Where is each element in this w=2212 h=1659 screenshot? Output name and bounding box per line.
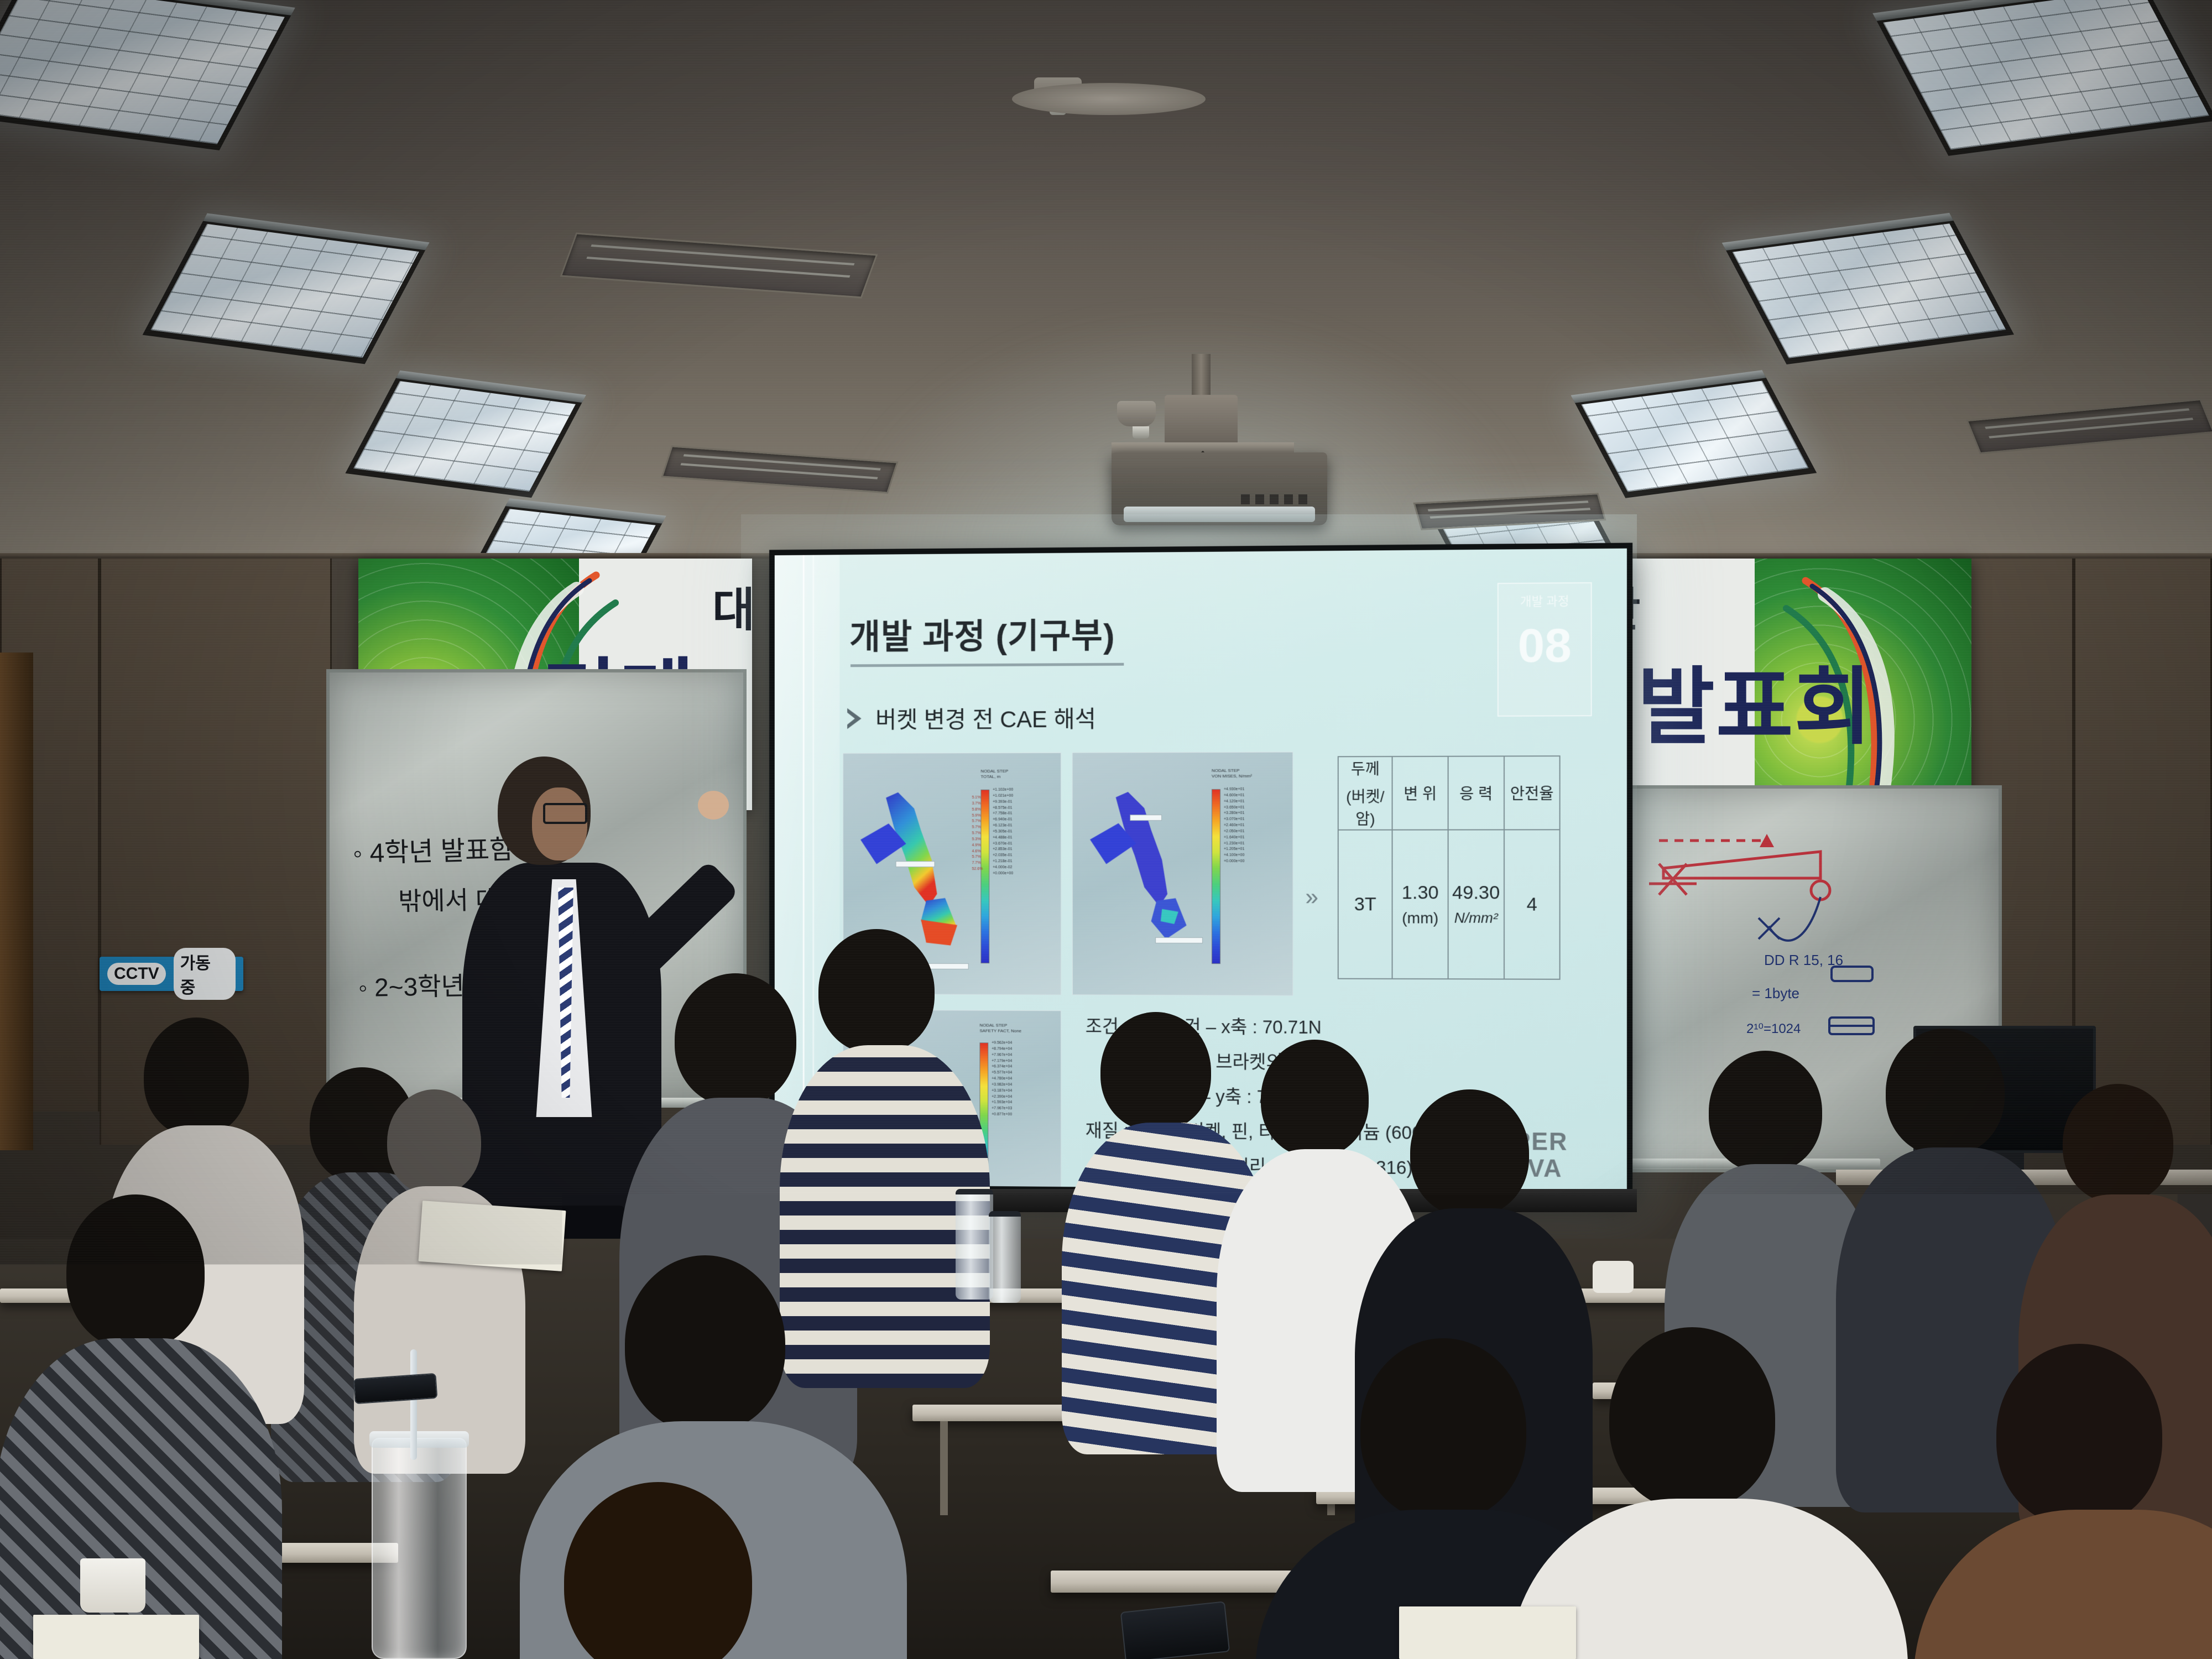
whiteboard-left-note-1: ◦ 4학년 발표함 — [352, 827, 514, 870]
audience-head — [66, 1194, 205, 1349]
colorbar-title: NODAL STEPSAFETY FACT, None — [979, 1022, 1021, 1034]
slide-page-badge: 개발 과정 08 — [1498, 582, 1592, 717]
table-header-thickness: 두께 (버켓/암) — [1338, 757, 1392, 830]
audience-head — [1996, 1344, 2162, 1526]
banner-left-edge-char: 대 — [712, 573, 752, 640]
audience-head — [1360, 1338, 1526, 1521]
cell-stress-unit: N/mm² — [1449, 909, 1504, 926]
paper-cup — [80, 1558, 145, 1613]
projector-ports — [1241, 494, 1307, 504]
table-row: 3T 1.30 (mm) 49.30 N/mm² 4 — [1338, 830, 1560, 979]
fea-callout — [1130, 815, 1162, 821]
audience-head — [144, 1018, 249, 1136]
water-bottle — [989, 1211, 1021, 1303]
audience-head — [1410, 1089, 1529, 1217]
colorbar-tick-labels: +4.930e+01+4.600e+01+4.120e+01+3.650e+01… — [1224, 787, 1244, 865]
svg-text:2¹⁰=1024: 2¹⁰=1024 — [1746, 1021, 1801, 1036]
audience-head — [387, 1089, 481, 1194]
cctv-sign: CCTV 가동 중 — [100, 957, 243, 991]
svg-text:= 1byte: = 1byte — [1752, 985, 1799, 1001]
table-header-displacement: 변 위 — [1392, 757, 1448, 830]
drinking-straw — [410, 1349, 417, 1460]
table-item — [1593, 1261, 1634, 1293]
audience-head — [2063, 1084, 2173, 1203]
presenter-hand — [698, 791, 729, 820]
event-banner-right: 단 발표회 한국연구재단 — [1584, 559, 1971, 818]
cell-safety-factor: 4 — [1504, 830, 1560, 979]
audience-head — [1886, 1029, 2005, 1156]
banner-right-title: 발표회 — [1637, 639, 1873, 760]
cell-displacement: 1.30 (mm) — [1392, 830, 1448, 979]
ceiling-speaker — [1012, 83, 1206, 115]
audience-head — [1100, 1012, 1211, 1131]
table-header-thickness-sub: (버켓/암) — [1339, 785, 1392, 829]
cctv-label: CCTV — [107, 963, 166, 985]
cell-stress: 49.30 N/mm² — [1448, 830, 1504, 979]
arrow-chevrons-icon: » — [1305, 884, 1313, 910]
projector-lens — [1124, 507, 1315, 522]
table-header-thickness-main: 두께 — [1351, 760, 1380, 778]
slide-title: 개발 과정 (기구부) — [849, 608, 1115, 659]
fea-callout — [896, 861, 935, 867]
presenter-glasses — [543, 803, 587, 824]
audience-head — [1609, 1327, 1775, 1510]
cae-results-table: 두께 (버켓/암) 변 위 응 력 안전율 3T 1.30 (mm) — [1338, 755, 1561, 980]
paper-sheet — [33, 1615, 199, 1659]
door-frame — [0, 653, 33, 1150]
colorbar-tick-labels: +1.102e+00+1.021e+00+9.393e-01+8.575e-01… — [993, 787, 1013, 877]
fea-figure-stress: NODAL STEPVON MISES, N/mm² +4.930e+01+4.… — [1072, 752, 1293, 995]
table-header-stress: 응 력 — [1448, 756, 1504, 830]
water-bottle — [956, 1189, 993, 1300]
colorbar — [1212, 789, 1220, 964]
whiteboard-beam-sketch: DD R 15, 16 = 1byte 2¹⁰=1024 — [1626, 813, 1969, 1045]
cell-displacement-unit: (mm) — [1393, 909, 1448, 927]
sprinkler-head — [1117, 401, 1156, 426]
chevron-right-bullet-icon — [845, 707, 863, 730]
slide-bullet-row: 버켓 변경 전 CAE 해석 — [845, 701, 1096, 735]
desk-leg — [940, 1421, 948, 1515]
drink-tumbler — [372, 1438, 467, 1659]
excavator-arm-stress-mesh — [1086, 767, 1222, 980]
colorbar-tick-labels: +9.562e+04+8.794e+04+7.967e+04+7.179e+04… — [992, 1040, 1012, 1118]
cell-displacement-value: 1.30 — [1402, 882, 1439, 903]
slide-page-number: 08 — [1499, 618, 1591, 674]
audience-head — [675, 973, 796, 1106]
svg-text:DD R 15, 16: DD R 15, 16 — [1764, 952, 1843, 968]
slide-title-underline — [851, 663, 1124, 667]
light-lens — [353, 381, 576, 492]
table-header-row: 두께 (버켓/암) 변 위 응 력 안전율 — [1338, 756, 1560, 830]
projector-mount-bracket — [1165, 395, 1238, 448]
table-header-safety: 안전율 — [1504, 756, 1560, 830]
cctv-status-label: 가동 중 — [174, 948, 236, 1000]
paper-handout — [1399, 1606, 1576, 1659]
slide-bullet-text: 버켓 변경 전 CAE 해석 — [875, 701, 1096, 735]
audience-head — [818, 929, 935, 1053]
paper-handout — [418, 1201, 566, 1271]
cell-thickness: 3T — [1338, 830, 1392, 979]
tumbler-lid — [369, 1431, 469, 1448]
colorbar-percent-labels: 5.1%3.7%5.8%5.9%5.7%5.7%5.7%5.3%4.9%4.6%… — [972, 795, 983, 873]
colorbar-title: NODAL STEPVON MISES, N/mm² — [1212, 768, 1252, 780]
audience-head — [625, 1255, 785, 1432]
cell-stress-value: 49.30 — [1452, 882, 1500, 903]
colorbar-title: NODAL STEPTOTAL, m — [980, 769, 1008, 780]
audience-head — [1261, 1040, 1369, 1157]
audience-head — [1709, 1051, 1822, 1172]
presenter-face — [532, 787, 587, 860]
fea-callout — [1155, 937, 1203, 943]
presentation-room-photo: 기계 · 자 주최 : 대구대 대 단 발표회 한국연구재단 ◦ 4학년 발표함… — [0, 0, 2212, 1659]
projector-mount-pole — [1192, 354, 1211, 398]
slide-page-label: 개발 과정 — [1499, 591, 1591, 609]
smartphone — [1120, 1601, 1230, 1659]
ceiling-projector — [1112, 452, 1327, 525]
